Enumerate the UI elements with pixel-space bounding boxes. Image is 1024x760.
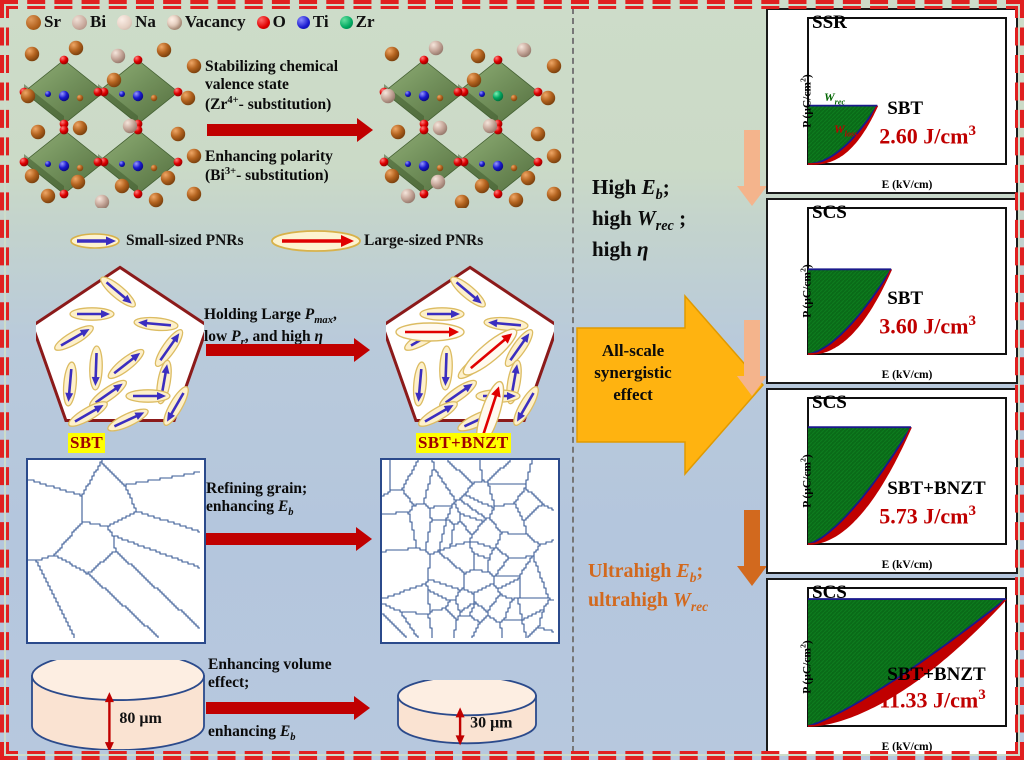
legend-item-sr: Sr <box>26 12 61 32</box>
wrec-annotation: Wrec <box>824 90 845 106</box>
legend-label-bi: Bi <box>90 12 106 32</box>
thickness-row-caption-bottom: enhancing Eb <box>208 723 383 745</box>
chart-sample-label: SBT <box>887 98 923 120</box>
pnr-legend-small-label: Small-sized PNRs <box>126 232 244 250</box>
chart-title: SCS <box>812 582 847 604</box>
crystal-row-arrow <box>207 124 359 136</box>
y-axis-label: P (μC/cm2) <box>799 435 814 527</box>
y-axis-label: P (μC/cm2) <box>799 621 814 713</box>
legend-label-sr: Sr <box>44 12 61 32</box>
ceramic-disc-thick: 80 μm <box>24 660 212 750</box>
tag-sbt-pnr: SBT <box>68 433 105 453</box>
connector-arrow-1 <box>744 130 760 206</box>
pnr-legend-large <box>270 227 362 260</box>
legend-item-bi: Bi <box>72 12 106 32</box>
legend-label-ti: Ti <box>313 12 329 32</box>
legend-label-zr: Zr <box>356 12 375 32</box>
chart-title: SCS <box>812 202 847 224</box>
large-pnr-icon <box>270 227 362 255</box>
thickness-row-arrow <box>206 702 356 714</box>
synergistic-effect-label: All-scale synergistic effect <box>583 340 683 406</box>
legend-item-na: Na <box>117 12 156 32</box>
graphical-abstract: Sr Bi Na Vacancy O Ti <box>0 0 1024 760</box>
chart-card-scs-sbt-bnzt-573: SCSP (μC/cm2)E (kV/cm)SBT+BNZT5.73 J/cm3 <box>766 388 1018 574</box>
thickness-row-caption-top: Enhancing volume effect; <box>208 656 383 693</box>
svg-text:80 μm: 80 μm <box>119 710 162 727</box>
atom-legend: Sr Bi Na Vacancy O Ti <box>26 12 386 32</box>
chart-card-scs-sbt-bnzt-1133: SCSP (μC/cm2)E (kV/cm)SBT+BNZT11.33 J/cm… <box>766 578 1018 756</box>
grain-map-sbt <box>26 458 206 644</box>
x-axis-label: E (kV/cm) <box>808 559 1006 571</box>
chart-sample-label: SBT+BNZT <box>887 664 985 686</box>
ceramic-disc-thin: 30 μm <box>390 680 544 748</box>
legend-item-vacancy: Vacancy <box>167 12 246 32</box>
chart-chart-scs-sbt-bnzt-573: SCSP (μC/cm2)E (kV/cm)SBT+BNZT5.73 J/cm3 <box>768 390 1016 572</box>
chart-energy-density-value: 5.73 J/cm3 <box>879 503 976 529</box>
crystal-caption-top: Stabilizing chemical valence state (Zr4+… <box>205 58 380 114</box>
grain-row-caption: Refining grain; enhancing Eb <box>206 480 376 520</box>
legend-item-o: O <box>257 12 286 32</box>
grain-row-arrow <box>206 533 358 545</box>
pnr-legend-small <box>70 230 120 257</box>
crystal-structure-sbt-bnzt <box>378 36 563 208</box>
legend-item-ti: Ti <box>297 12 329 32</box>
vacancy-atom-icon <box>167 15 182 30</box>
legend-label-o: O <box>273 12 286 32</box>
pnr-legend-large-label: Large-sized PNRs <box>364 232 483 250</box>
chart-sample-label: SBT+BNZT <box>887 478 985 500</box>
ti-atom-icon <box>297 16 310 29</box>
small-pnr-icon <box>70 230 120 252</box>
middle-note-top: High Eb; high Wrec ; high η <box>592 174 686 264</box>
y-axis-label: P (μC/cm2) <box>799 55 814 147</box>
left-panel: Sr Bi Na Vacancy O Ti <box>8 8 568 752</box>
x-axis-label: E (kV/cm) <box>808 741 1006 753</box>
chart-energy-density-value: 2.60 J/cm3 <box>879 123 976 149</box>
crystal-structure-sbt <box>18 36 203 208</box>
na-atom-icon <box>117 15 132 30</box>
chart-chart-scs-sbt-bnzt-1133: SCSP (μC/cm2)E (kV/cm)SBT+BNZT11.33 J/cm… <box>768 580 1016 754</box>
crystal-caption-bottom: Enhancing polarity (Bi3+- substitution) <box>205 148 385 186</box>
chart-chart-ssr-sbt: SSRP (μC/cm2)E (kV/cm)SBT2.60 J/cm3WrecW… <box>768 10 1016 192</box>
pnr-row-arrow <box>206 344 356 356</box>
svg-text:30 μm: 30 μm <box>470 714 513 731</box>
chart-card-ssr-sbt: SSRP (μC/cm2)E (kV/cm)SBT2.60 J/cm3WrecW… <box>766 8 1018 194</box>
grain-pnr-diagram-sbt-bnzt <box>386 256 554 434</box>
legend-item-zr: Zr <box>340 12 375 32</box>
x-axis-label: E (kV/cm) <box>808 179 1006 191</box>
legend-label-na: Na <box>135 12 156 32</box>
chart-title: SCS <box>812 392 847 414</box>
wloss-annotation: Wloss <box>834 122 857 138</box>
tag-sbt-bnzt-pnr: SBT+BNZT <box>416 433 511 453</box>
o-atom-icon <box>257 16 270 29</box>
chart-sample-label: SBT <box>887 288 923 310</box>
chart-title: SSR <box>812 12 847 34</box>
y-axis-label: P (μC/cm2) <box>799 245 814 337</box>
zr-atom-icon <box>340 16 353 29</box>
x-axis-label: E (kV/cm) <box>808 369 1006 381</box>
grain-map-sbt-bnzt <box>380 458 560 644</box>
chart-energy-density-value: 11.33 J/cm3 <box>879 687 985 713</box>
bi-atom-icon <box>72 15 87 30</box>
sr-atom-icon <box>26 15 41 30</box>
chart-chart-scs-sbt: SCSP (μC/cm2)E (kV/cm)SBT3.60 J/cm3 <box>768 200 1016 382</box>
chart-card-scs-sbt: SCSP (μC/cm2)E (kV/cm)SBT3.60 J/cm3 <box>766 198 1018 384</box>
connector-arrow-3 <box>744 510 760 586</box>
grain-pnr-diagram-sbt <box>36 256 204 434</box>
legend-label-vacancy: Vacancy <box>185 12 246 32</box>
connector-arrow-2 <box>744 320 760 396</box>
section-divider <box>572 8 574 752</box>
middle-note-bottom: Ultrahigh Eb; ultrahigh Wrec <box>588 558 708 616</box>
chart-energy-density-value: 3.60 J/cm3 <box>879 313 976 339</box>
